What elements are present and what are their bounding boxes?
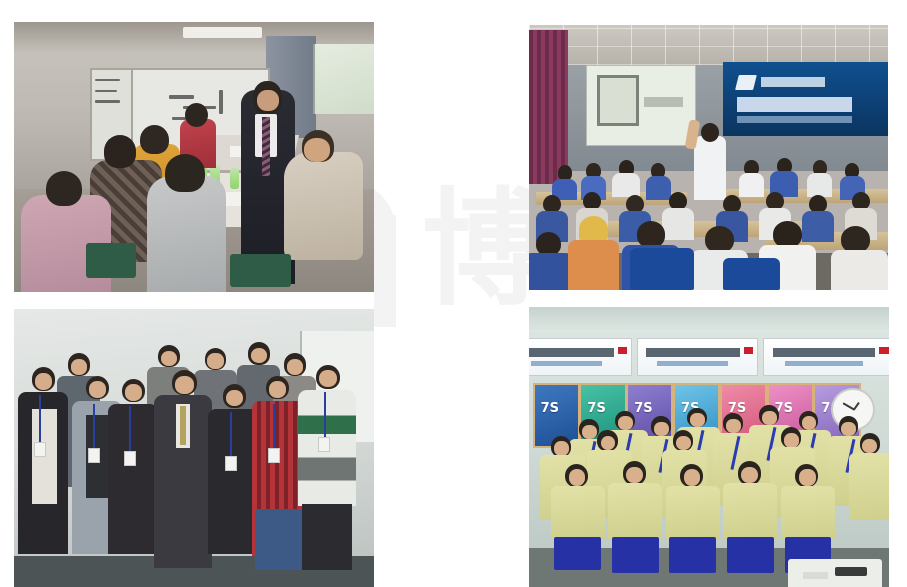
photo-classroom-workshop bbox=[14, 22, 374, 292]
photo-group-portrait bbox=[14, 309, 374, 587]
slogan-banner-3 bbox=[763, 338, 889, 376]
photo-auditorium-lecture bbox=[529, 25, 888, 290]
slogan-banner-2 bbox=[637, 338, 758, 376]
photo-factory-team: 7S 7S 7S 7S 7S 7S 7S bbox=[529, 307, 889, 587]
photo-collage-page: 博 bbox=[0, 0, 907, 587]
slogan-banner-1 bbox=[529, 338, 632, 376]
